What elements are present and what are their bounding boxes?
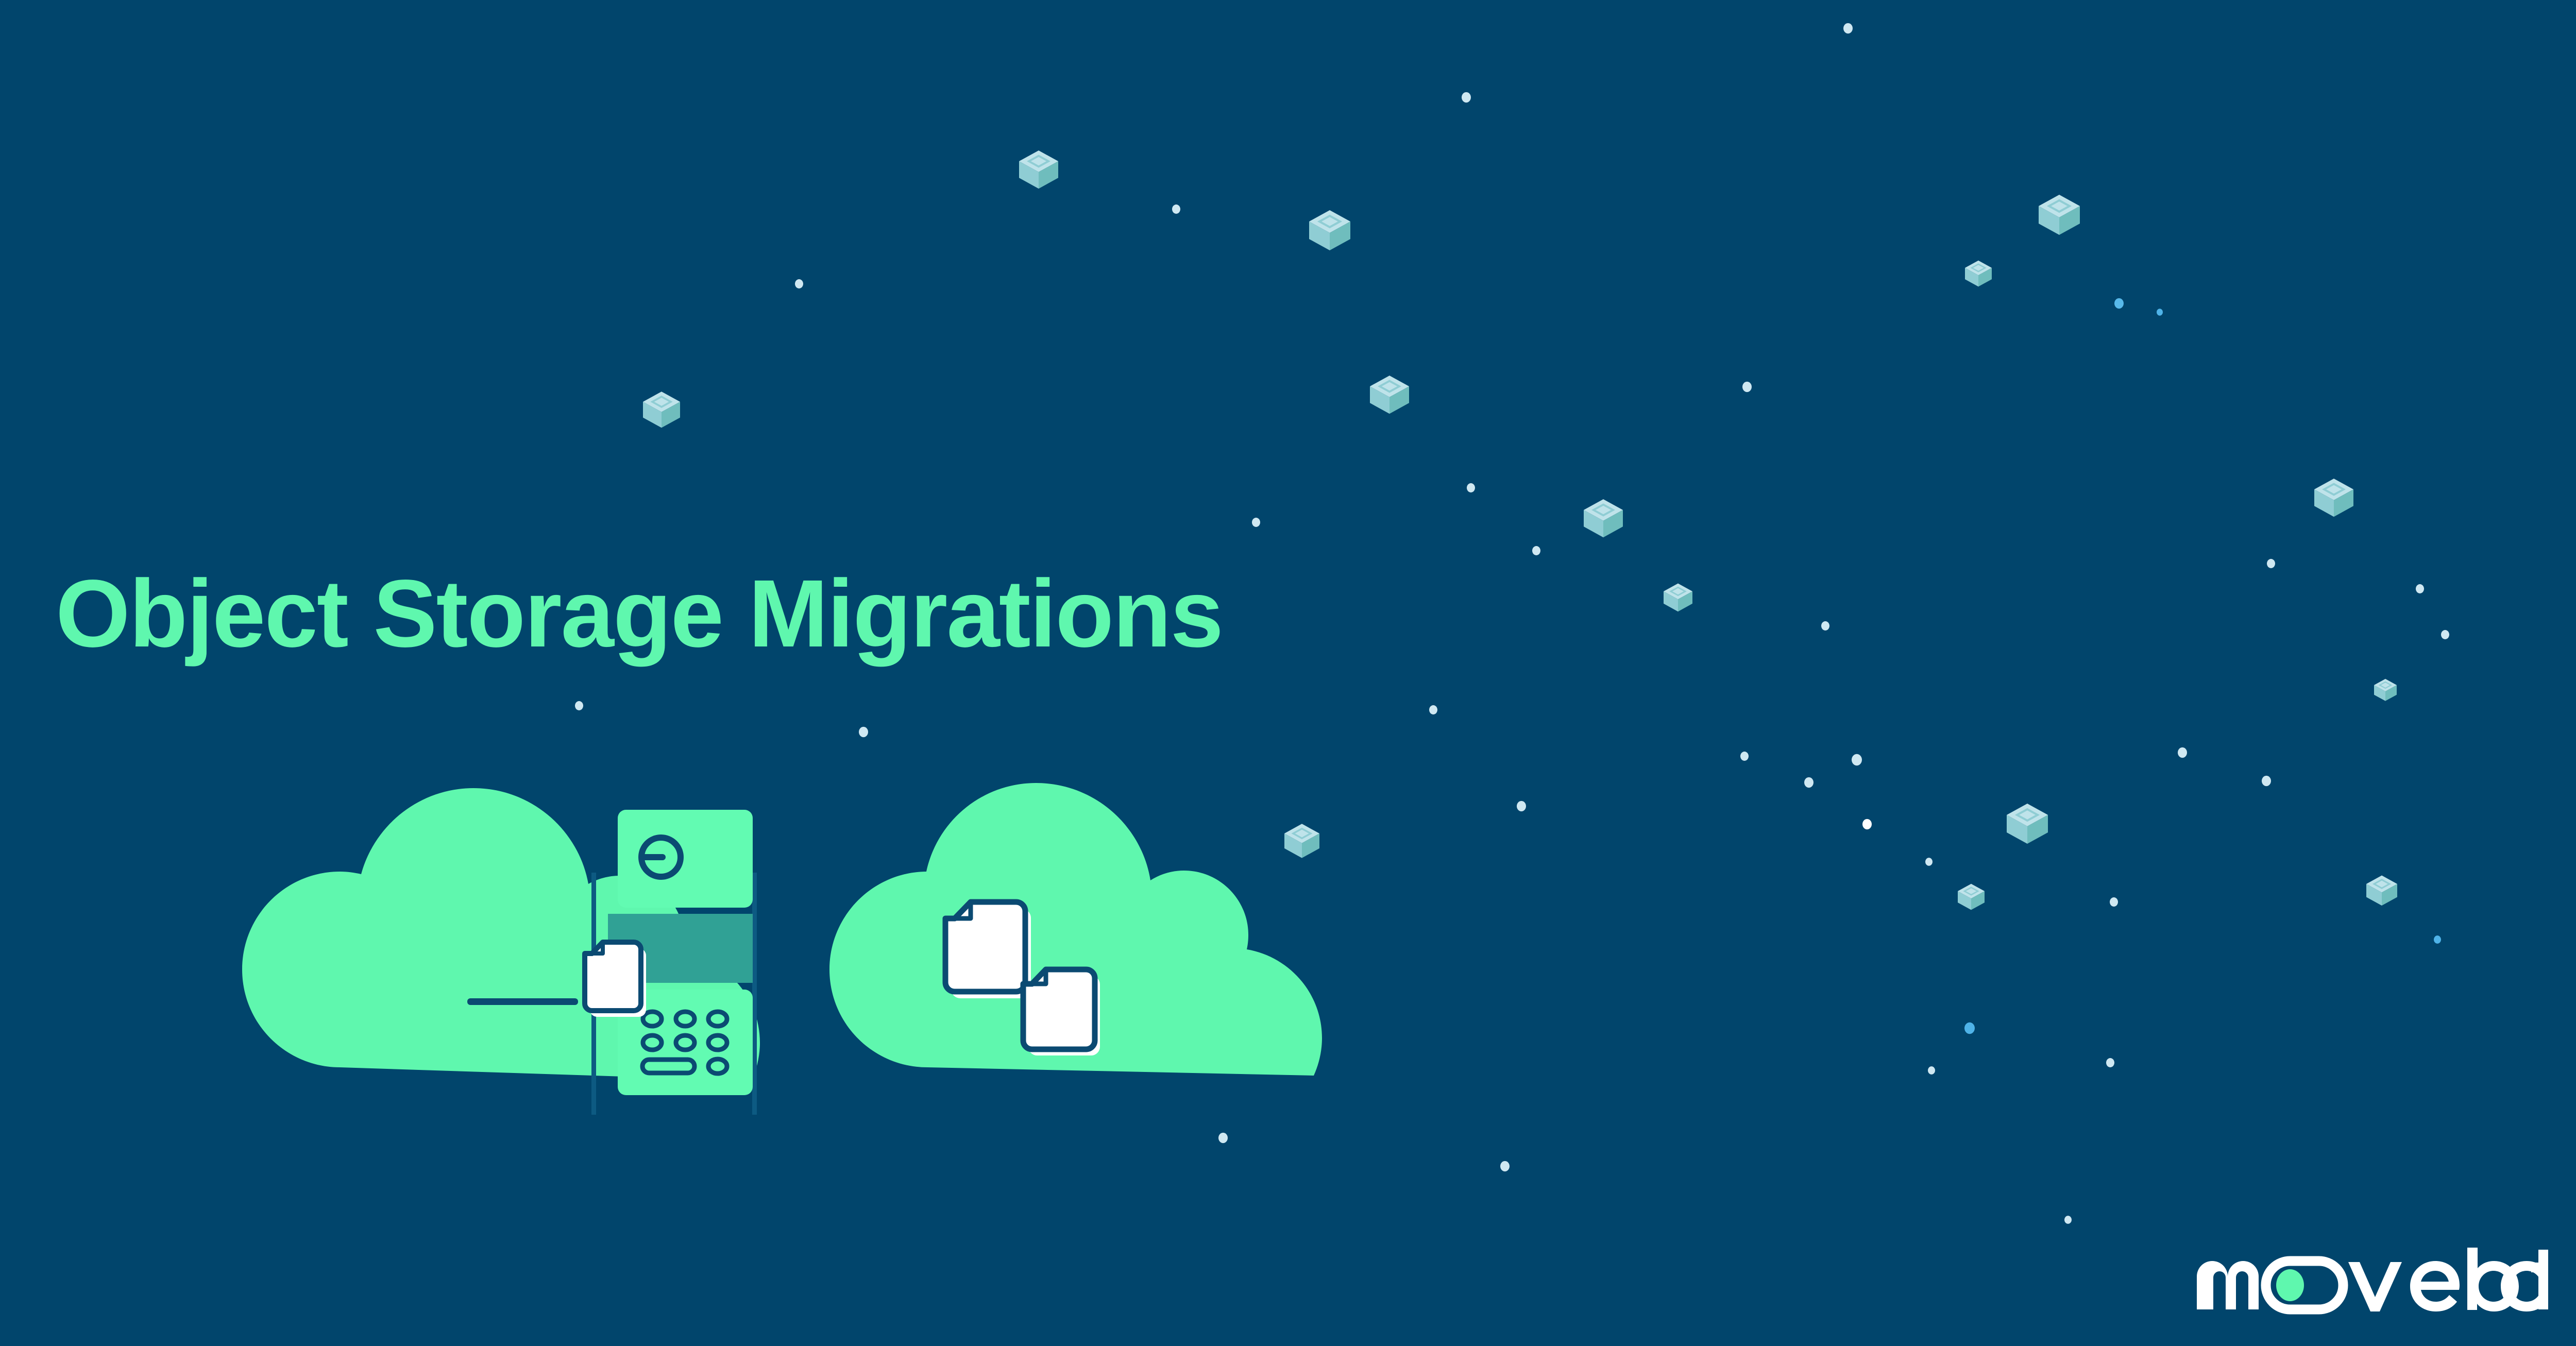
destination-cloud [829, 783, 1322, 1076]
destination-document-2 [1023, 969, 1100, 1055]
movebot-logo-mark [2188, 1248, 2548, 1315]
source-cloud-connector-line [467, 998, 578, 1005]
hero-banner: Object Storage Migrations [0, 0, 2576, 1346]
logo-toggle-knob [2276, 1269, 2304, 1301]
device-top-panel-body [618, 810, 753, 908]
device-top-panel [618, 810, 753, 908]
migration-illustration [0, 0, 2576, 1346]
destination-document-2-body [1023, 969, 1095, 1049]
destination-document-1-body [945, 902, 1025, 992]
logo-toggle-o-icon [2266, 1261, 2343, 1309]
page-title: Object Storage Migrations [56, 564, 1223, 664]
destination-document-1 [945, 902, 1031, 998]
logo-letter-e [2410, 1261, 2460, 1311]
logo-letter-m [2197, 1261, 2259, 1309]
movebot-logo[interactable] [2188, 1248, 2548, 1315]
device-document-icon [585, 942, 646, 1017]
logo-letter-v [2348, 1262, 2402, 1311]
device-right-rail [752, 873, 757, 1115]
